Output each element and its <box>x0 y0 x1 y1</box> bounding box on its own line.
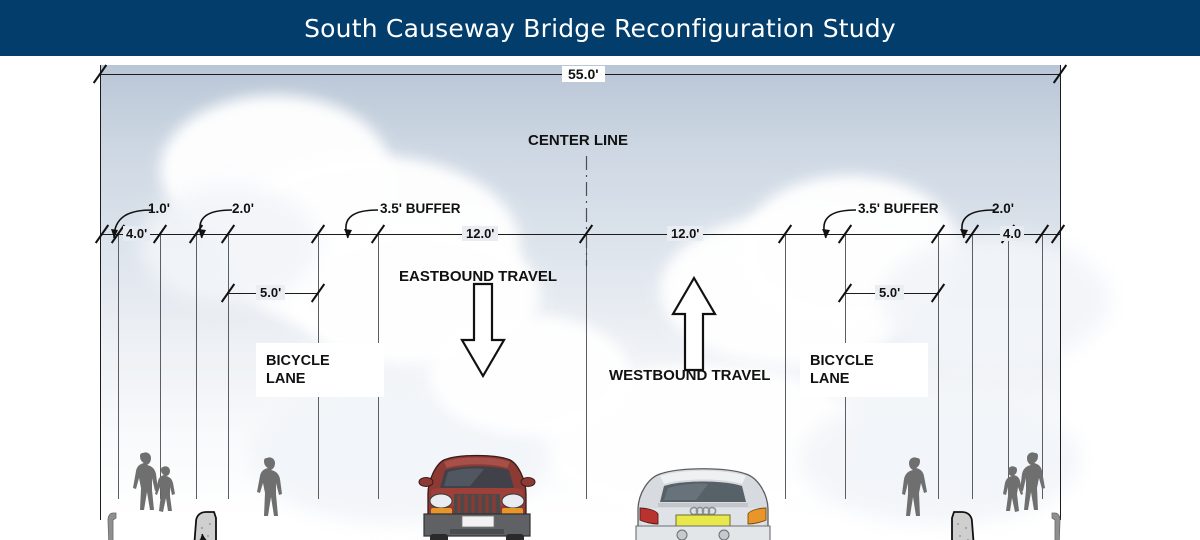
westbound-vehicle <box>628 464 778 540</box>
bicycle-lane-box-right: BICYCLE LANE <box>800 343 928 397</box>
barrier-left-leader <box>196 526 236 540</box>
left-barrier-label: 2.0' <box>232 201 254 216</box>
eastbound-arrow-icon <box>459 284 507 380</box>
center-line-label: CENTER LINE <box>528 132 628 149</box>
bicycle-lane-left-line1: BICYCLE <box>266 352 374 370</box>
page-title: South Causeway Bridge Reconfiguration St… <box>0 0 1200 56</box>
ext-line-barrier-left <box>196 234 197 499</box>
bicycle-lane-box-left: BICYCLE LANE <box>256 343 384 397</box>
ext-line-railing-left <box>118 234 119 499</box>
ext-line-bikelane-right-end <box>938 234 939 499</box>
left-railing-label: 1.0' <box>148 201 170 216</box>
cross-section-drawing: 55.0' CENTER LINE 4.0' 12.0' 12.0' 4.0 <box>0 56 1200 540</box>
eastbound-travel-label: EASTBOUND TRAVEL <box>399 268 557 285</box>
ext-line-buffer-right-start <box>785 234 786 499</box>
railing-post-left <box>104 508 120 540</box>
cyclist-left <box>252 456 288 518</box>
barrier-right <box>946 506 980 540</box>
section-edge-left <box>100 65 101 520</box>
ext-line-barrier-right <box>972 234 973 499</box>
bicycle-lane-right-line1: BICYCLE <box>810 352 918 370</box>
right-buffer-label: 3.5' BUFFER <box>858 201 938 216</box>
left-bikelane-dim-label: 5.0' <box>256 285 285 300</box>
center-line <box>584 156 590 266</box>
westbound-lane-dim-label: 12.0' <box>667 226 703 241</box>
title-bar: South Causeway Bridge Reconfiguration St… <box>0 0 1200 56</box>
railing-post-right <box>1048 508 1064 540</box>
westbound-arrow-icon <box>670 278 718 374</box>
bicycle-lane-right-line2: LANE <box>810 370 918 388</box>
bicycle-lane-left-line2: LANE <box>266 370 374 388</box>
slide-root: South Causeway Bridge Reconfiguration St… <box>0 0 1200 540</box>
right-bikelane-dim-label: 5.0' <box>875 285 904 300</box>
main-dimension-line <box>100 234 1060 235</box>
pedestrian-pair-right <box>988 451 1052 517</box>
section-edge-right <box>1060 65 1061 520</box>
right-sidewalk-dim-label: 4.0 <box>1000 226 1024 241</box>
ext-line-bikelane-left-start <box>228 234 229 499</box>
right-barrier-label: 2.0' <box>992 201 1014 216</box>
pedestrian-pair-left <box>126 451 190 517</box>
eastbound-lane-dim-label: 12.0' <box>462 226 498 241</box>
ext-line-centerline <box>586 234 587 499</box>
cyclist-right <box>896 456 932 518</box>
overall-width-label: 55.0' <box>562 66 605 82</box>
left-buffer-label: 3.5' BUFFER <box>380 201 460 216</box>
eastbound-vehicle <box>414 450 540 540</box>
